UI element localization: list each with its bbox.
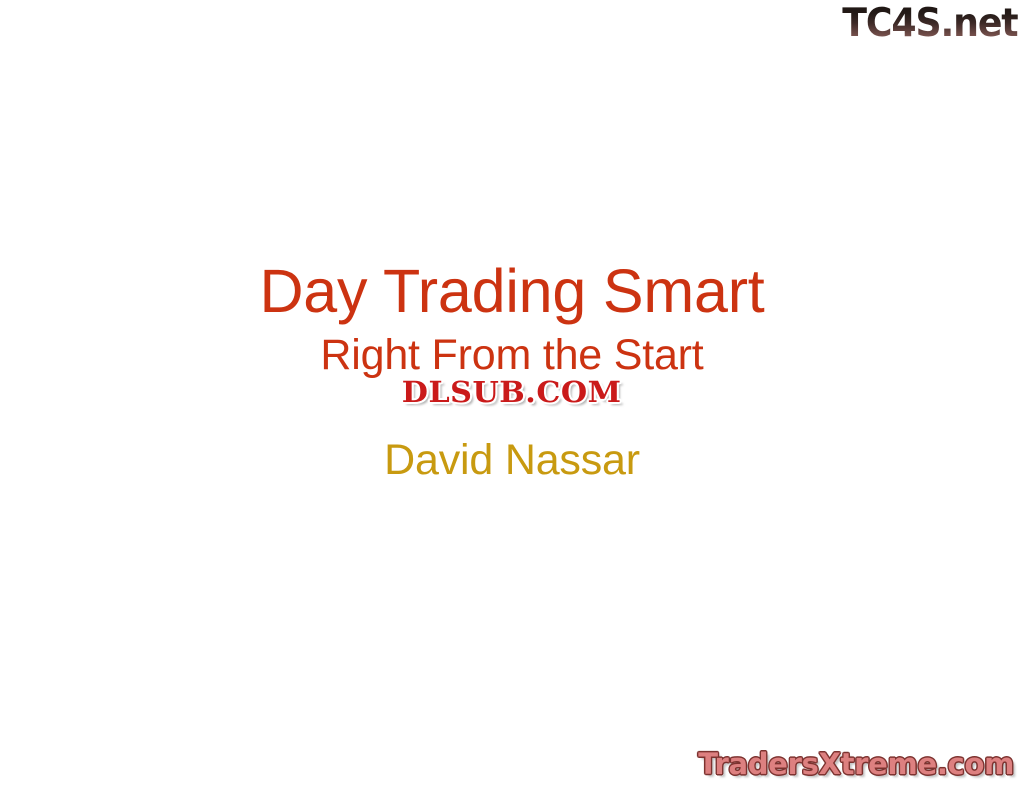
page-title: Day Trading Smart <box>0 258 1024 324</box>
dlsub-watermark-text: DLSUB.COM <box>402 374 622 410</box>
dlsub-watermark: DLSUB.COM <box>366 374 658 412</box>
page-subtitle: Right From the Start <box>0 332 1024 379</box>
tradersxtreme-watermark-text: TradersXtreme.com <box>698 748 1014 781</box>
presentation-slide: TC4S.net Day Trading Smart Right From th… <box>0 0 1024 791</box>
tradersxtreme-watermark: TradersXtreme.com <box>698 748 1014 781</box>
author-name: David Nassar <box>0 437 1024 484</box>
tc4s-logo: TC4S.net <box>843 2 1018 46</box>
